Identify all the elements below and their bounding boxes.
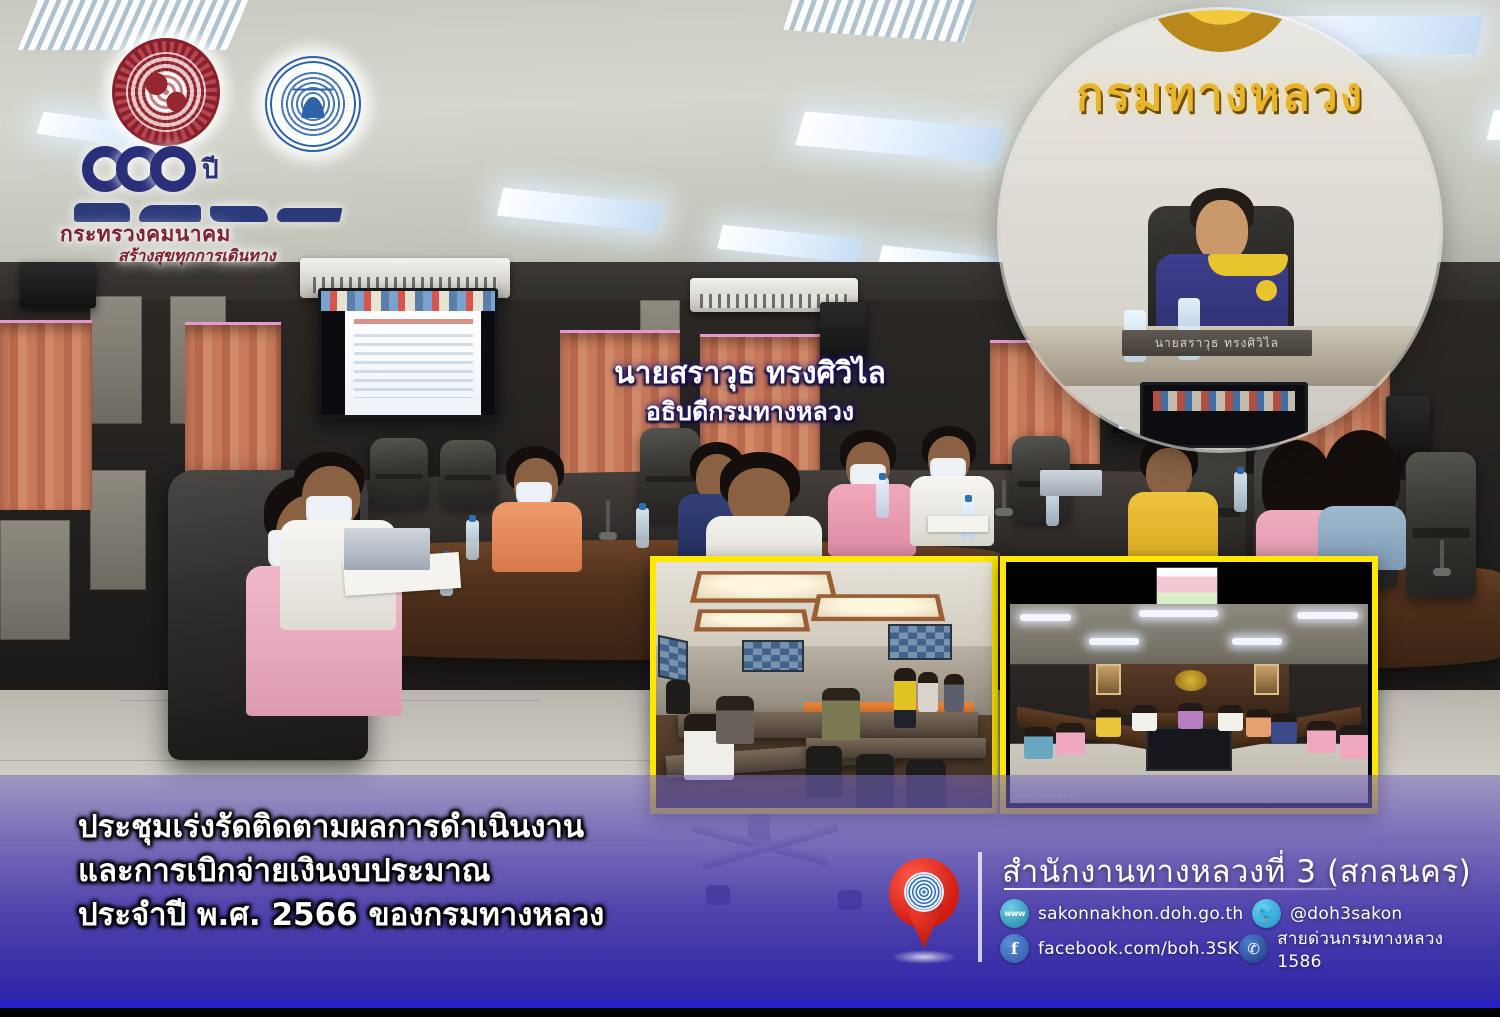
director-name-caption: นายสราวุธ ทรงศิวิไล xyxy=(0,350,1500,397)
monitor xyxy=(1146,727,1232,771)
director-role-caption: อธิบดีกรมทางหลวง xyxy=(0,392,1500,432)
shirt-collar xyxy=(1208,254,1288,276)
footer-contacts: www sakonnakhon.doh.go.th 🐦 @doh3sakon f… xyxy=(1000,896,1470,966)
attendee xyxy=(1096,709,1121,737)
pin-shadow xyxy=(891,950,957,964)
hotline-label: สายด่วนกรมทางหลวง 1586 xyxy=(1277,925,1470,972)
wall-sign-text: กรมทางหลวง xyxy=(1000,58,1440,131)
anniversary-ring-icon xyxy=(150,146,196,192)
ceiling-coffer-light xyxy=(811,594,945,621)
anniversary-unit-label: ปี xyxy=(202,149,219,190)
head xyxy=(1196,200,1248,262)
contact-website[interactable]: www sakonnakhon.doh.go.th xyxy=(1000,899,1252,928)
ceiling-light xyxy=(1089,638,1139,645)
ministry-of-transport-seal-icon xyxy=(112,38,220,146)
department-emblem-icon xyxy=(1175,670,1207,692)
ministry-slogan-label: สร้างสุขทุกการเดินทาง xyxy=(118,244,418,269)
ceiling-light xyxy=(1139,610,1218,617)
table-microphone xyxy=(606,500,610,534)
remote-meeting-room-view: สำนักงานทางหลวงที่ 3 xyxy=(1010,604,1369,803)
globe-icon: www xyxy=(1000,899,1029,928)
royal-portrait xyxy=(1096,664,1121,696)
video-tiles-strip xyxy=(321,291,495,311)
ceiling-light xyxy=(1020,614,1070,621)
table-microphone xyxy=(1440,540,1444,570)
ceiling-coffer-light xyxy=(694,609,811,631)
caption-line-2: และการเบิกจ่ายเงินงบประมาณ xyxy=(78,849,678,893)
hair xyxy=(1324,430,1400,518)
pin-tip xyxy=(904,904,944,948)
contact-facebook[interactable]: f facebook.com/boh.3SK xyxy=(1000,934,1239,963)
meeting-chair xyxy=(440,440,496,508)
twitter-icon: 🐦 xyxy=(1252,899,1281,928)
poster-root: ปี กระทรวงคมนาคม สร้างสุขทุกการเดินทาง ก… xyxy=(0,0,1500,1017)
twitter-label: @doh3sakon xyxy=(1290,904,1402,924)
caption-line-1: ประชุมเร่งรัดติดตามผลการดำเนินงาน xyxy=(78,805,678,849)
meeting-chair xyxy=(1406,452,1476,598)
ceiling-light xyxy=(1297,612,1358,619)
laptop xyxy=(1040,470,1102,496)
attendee-long-hair-b xyxy=(1318,430,1406,550)
meeting-chair xyxy=(666,680,690,714)
attendee xyxy=(716,696,754,744)
table-microphone xyxy=(1002,480,1006,510)
water-bottle xyxy=(876,478,889,518)
facebook-icon: f xyxy=(1000,934,1029,963)
attendee xyxy=(918,672,938,712)
laptop xyxy=(344,528,430,570)
torso xyxy=(910,476,994,546)
water-bottle xyxy=(466,520,479,560)
torso xyxy=(492,502,582,572)
wall-panel xyxy=(0,520,70,640)
attendee xyxy=(1218,705,1243,731)
attendee xyxy=(1340,725,1369,759)
video-wall-screen xyxy=(742,640,804,672)
floor-tile-line xyxy=(0,760,660,761)
facebook-label: facebook.com/boh.3SK xyxy=(1038,939,1239,959)
contact-twitter[interactable]: 🐦 @doh3sakon xyxy=(1252,899,1402,928)
head xyxy=(1146,448,1192,498)
attendee xyxy=(1271,713,1296,743)
attendee-orange xyxy=(492,446,584,556)
ceiling-light xyxy=(1232,638,1282,645)
attendee xyxy=(1307,721,1336,753)
phone-icon: ✆ xyxy=(1239,934,1268,963)
department-of-highways-seal-icon xyxy=(906,874,942,910)
royal-crest-icon xyxy=(1145,10,1295,52)
document-paper xyxy=(928,516,988,532)
water-bottle xyxy=(1234,472,1247,512)
footer-divider xyxy=(978,852,982,962)
royal-portrait xyxy=(1254,664,1279,696)
banner-bottom-edge xyxy=(0,1008,1500,1017)
banner-accent-strip xyxy=(0,1000,1500,1008)
website-label: sakonnakhon.doh.go.th xyxy=(1038,904,1244,924)
attendee xyxy=(1246,709,1271,737)
logo-cluster: ปี กระทรวงคมนาคม สร้างสุขทุกการเดินทาง xyxy=(60,20,400,250)
wall-speaker xyxy=(20,262,96,308)
anniversary-111-logo: ปี xyxy=(82,138,372,200)
attendee-yellow-shirt xyxy=(1128,436,1220,556)
attendee xyxy=(944,674,964,712)
attendee-pink-polo xyxy=(828,430,918,542)
attendee xyxy=(1132,705,1157,731)
contact-row: f facebook.com/boh.3SK ✆ สายด่วนกรมทางหล… xyxy=(1000,931,1470,966)
contact-hotline[interactable]: ✆ สายด่วนกรมทางหลวง 1586 xyxy=(1239,925,1470,972)
torso xyxy=(828,484,916,556)
attendee-officer xyxy=(822,688,860,740)
attendee-chairman xyxy=(1178,703,1203,729)
water-bottle xyxy=(636,508,649,548)
wall-panel xyxy=(90,470,146,590)
footer-underline xyxy=(1004,888,1336,890)
attendee xyxy=(1024,727,1053,759)
map-pin-icon xyxy=(885,858,963,966)
attendee-standing-yellow xyxy=(894,668,916,728)
video-wall-screen xyxy=(888,624,952,660)
event-title-caption: ประชุมเร่งรัดติดตามผลการดำเนินงาน และการ… xyxy=(78,805,678,937)
caption-line-3: ประจำปี พ.ศ. 2566 ของกรมทางหลวง xyxy=(78,893,678,937)
video-wall-screen xyxy=(658,635,688,683)
attendee xyxy=(1056,723,1085,755)
department-badge-icon xyxy=(1256,280,1277,301)
